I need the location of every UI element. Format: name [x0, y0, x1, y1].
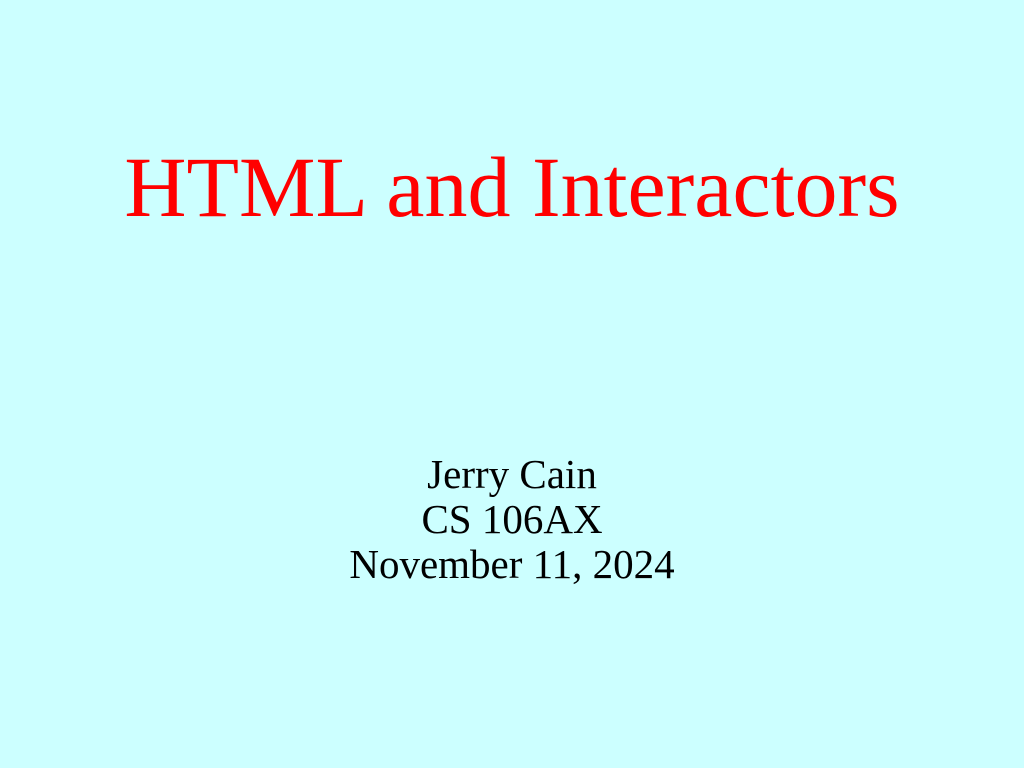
subtitle-placeholder: Jerry Cain CS 106AX November 11, 2024 [0, 452, 1024, 587]
presentation-slide: HTML and Interactors Jerry Cain CS 106AX… [0, 0, 1024, 768]
title-placeholder: HTML and Interactors [0, 0, 1024, 248]
subtitle-line-author: Jerry Cain [0, 452, 1024, 497]
subtitle-line-course: CS 106AX [0, 497, 1024, 542]
subtitle-line-date: November 11, 2024 [0, 542, 1024, 587]
page-title: HTML and Interactors [0, 144, 1024, 230]
